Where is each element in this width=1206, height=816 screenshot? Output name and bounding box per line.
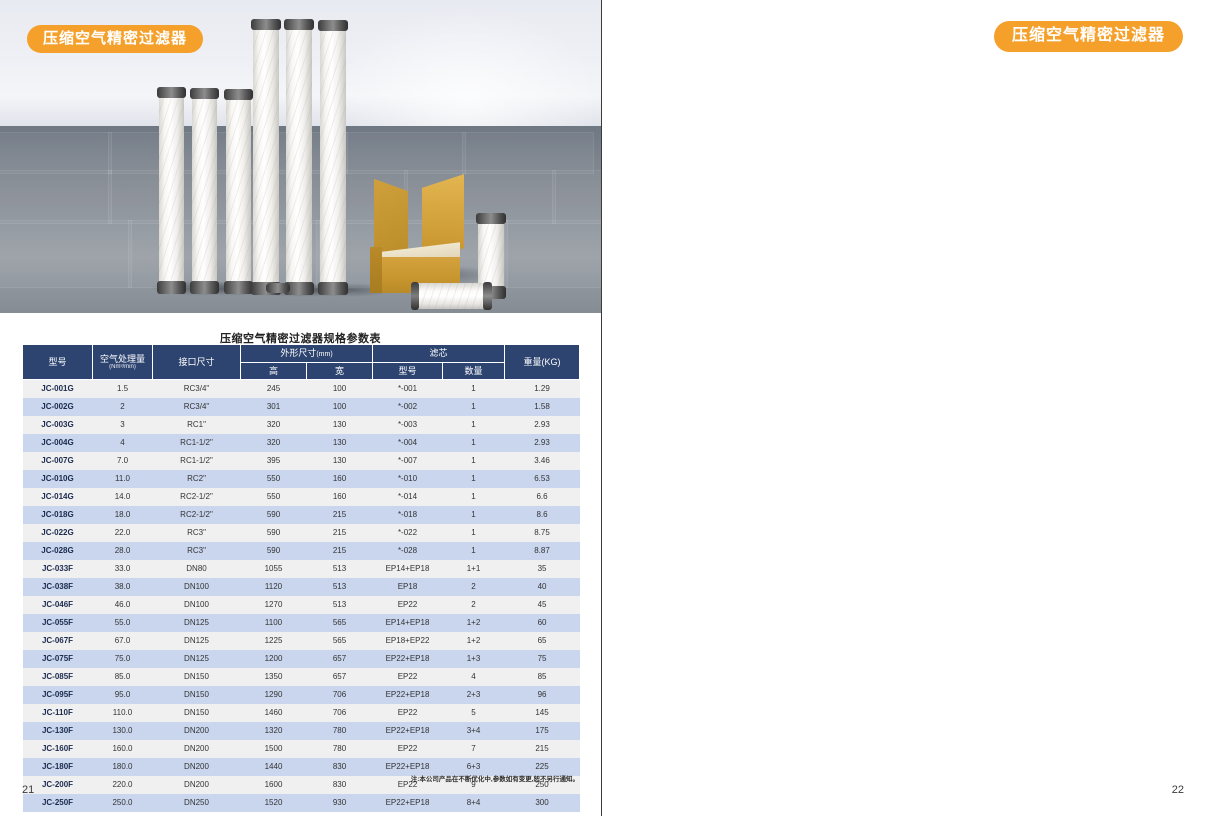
cell-value: 1350 bbox=[241, 668, 307, 686]
cell-value: *-002 bbox=[373, 398, 443, 416]
cell-value: 830 bbox=[307, 776, 373, 794]
cell-value: 95.0 bbox=[93, 686, 153, 704]
cell-value: EP22+EP18 bbox=[373, 722, 443, 740]
header-air-flow-unit: (Nm³/min) bbox=[94, 364, 151, 371]
filter-cartridge-short bbox=[478, 220, 504, 292]
cell-value: 130 bbox=[307, 416, 373, 434]
cell-value: 1290 bbox=[241, 686, 307, 704]
cell-value: EP18+EP22 bbox=[373, 632, 443, 650]
cell-value: 930 bbox=[307, 794, 373, 812]
cell-model: JC-022G bbox=[23, 524, 93, 542]
cell-value: 1 bbox=[443, 434, 505, 452]
cell-value: 2+3 bbox=[443, 686, 505, 704]
cell-value: 60 bbox=[505, 614, 580, 632]
cell-value: 215 bbox=[307, 506, 373, 524]
cell-value: 4 bbox=[443, 668, 505, 686]
cell-value: *-004 bbox=[373, 434, 443, 452]
cell-value: *-010 bbox=[373, 470, 443, 488]
table-row: JC-038F38.0DN1001120513EP18240 bbox=[23, 578, 580, 596]
cell-value: 250.0 bbox=[93, 794, 153, 812]
header-element-model: 型号 bbox=[373, 363, 443, 380]
cell-value: 85.0 bbox=[93, 668, 153, 686]
cell-value: 657 bbox=[307, 650, 373, 668]
table-row: JC-010G11.0RC2"550160*-01016.53 bbox=[23, 470, 580, 488]
header-element-qty: 数量 bbox=[443, 363, 505, 380]
cell-value: 590 bbox=[241, 506, 307, 524]
cell-model: JC-002G bbox=[23, 398, 93, 416]
cell-value: 565 bbox=[307, 632, 373, 650]
cell-value: RC3" bbox=[153, 524, 241, 542]
cell-value: DN150 bbox=[153, 686, 241, 704]
cell-value: DN80 bbox=[153, 560, 241, 578]
table-row: JC-250F250.0DN2501520930EP22+EP188+4300 bbox=[23, 794, 580, 812]
cell-value: EP18 bbox=[373, 578, 443, 596]
cell-value: 706 bbox=[307, 686, 373, 704]
cell-value: 175 bbox=[505, 722, 580, 740]
cell-value: 1+2 bbox=[443, 614, 505, 632]
cell-value: 1500 bbox=[241, 740, 307, 758]
spec-table: 型号 空气处理量 (Nm³/min) 接口尺寸 外形尺寸(mm) 滤芯 重量(K… bbox=[22, 344, 580, 812]
table-row: JC-160F160.0DN2001500780EP227215 bbox=[23, 740, 580, 758]
table-row: JC-033F33.0DN801055513EP14+EP181+135 bbox=[23, 560, 580, 578]
cell-value: 1 bbox=[443, 542, 505, 560]
table-row: JC-004G4RC1-1/2"320130*-00412.93 bbox=[23, 434, 580, 452]
cell-value: 55.0 bbox=[93, 614, 153, 632]
cell-value: 96 bbox=[505, 686, 580, 704]
cell-value: 1270 bbox=[241, 596, 307, 614]
cell-value: 75 bbox=[505, 650, 580, 668]
cell-value: 1600 bbox=[241, 776, 307, 794]
cell-value: DN125 bbox=[153, 614, 241, 632]
cell-value: *-003 bbox=[373, 416, 443, 434]
filter-cartridge bbox=[253, 26, 279, 288]
cell-value: 565 bbox=[307, 614, 373, 632]
cell-model: JC-018G bbox=[23, 506, 93, 524]
table-row: JC-007G7.0RC1-1/2"395130*-00713.46 bbox=[23, 452, 580, 470]
cell-value: 1 bbox=[443, 470, 505, 488]
cell-value: 1 bbox=[443, 380, 505, 399]
cell-value: DN150 bbox=[153, 668, 241, 686]
cell-value: RC1" bbox=[153, 416, 241, 434]
cell-value: 180.0 bbox=[93, 758, 153, 776]
cell-model: JC-075F bbox=[23, 650, 93, 668]
filter-cartridge bbox=[192, 95, 217, 287]
cell-model: JC-130F bbox=[23, 722, 93, 740]
filter-cartridge bbox=[226, 96, 251, 287]
header-port-size: 接口尺寸 bbox=[153, 345, 241, 380]
cell-model: JC-001G bbox=[23, 380, 93, 399]
cell-value: 130 bbox=[307, 452, 373, 470]
cell-value: 1.29 bbox=[505, 380, 580, 399]
cell-value: 780 bbox=[307, 740, 373, 758]
cell-value: 8.75 bbox=[505, 524, 580, 542]
cell-value: 8+4 bbox=[443, 794, 505, 812]
cell-value: 245 bbox=[241, 380, 307, 399]
cell-value: 7.0 bbox=[93, 452, 153, 470]
cell-value: 160 bbox=[307, 488, 373, 506]
cell-value: 3.46 bbox=[505, 452, 580, 470]
cell-value: *-014 bbox=[373, 488, 443, 506]
cell-value: 100 bbox=[307, 398, 373, 416]
table-row: JC-001G1.5RC3/4"245100*-00111.29 bbox=[23, 380, 580, 399]
cell-value: 6.53 bbox=[505, 470, 580, 488]
filter-cartridge bbox=[159, 94, 184, 287]
cell-value: *-007 bbox=[373, 452, 443, 470]
table-row: JC-085F85.0DN1501350657EP22485 bbox=[23, 668, 580, 686]
cell-model: JC-095F bbox=[23, 686, 93, 704]
product-title-badge-right: 压缩空气精密过滤器 bbox=[994, 21, 1183, 52]
left-page-number: 21 bbox=[22, 784, 34, 796]
cell-value: RC3/4" bbox=[153, 380, 241, 399]
cell-value: 2.93 bbox=[505, 416, 580, 434]
cell-model: JC-003G bbox=[23, 416, 93, 434]
table-row: JC-014G14.0RC2-1/2"550160*-01416.6 bbox=[23, 488, 580, 506]
cell-value: RC2-1/2" bbox=[153, 506, 241, 524]
cell-model: JC-180F bbox=[23, 758, 93, 776]
table-row: JC-130F130.0DN2001320780EP22+EP183+4175 bbox=[23, 722, 580, 740]
cell-value: 590 bbox=[241, 524, 307, 542]
cell-value: RC3" bbox=[153, 542, 241, 560]
cell-value: 1440 bbox=[241, 758, 307, 776]
cell-value: EP14+EP18 bbox=[373, 614, 443, 632]
cell-value: 1225 bbox=[241, 632, 307, 650]
cell-value: 130 bbox=[307, 434, 373, 452]
cell-value: 1460 bbox=[241, 704, 307, 722]
cell-value: 67.0 bbox=[93, 632, 153, 650]
cell-value: DN250 bbox=[153, 794, 241, 812]
cell-value: 830 bbox=[307, 758, 373, 776]
cell-value: 33.0 bbox=[93, 560, 153, 578]
cell-value: 1 bbox=[443, 524, 505, 542]
right-page: 压缩空气精密过滤器 过滤等级过滤器名称过滤器类型固体颗粒去除(包括水和油雾)最大… bbox=[601, 0, 1206, 816]
cell-value: RC2" bbox=[153, 470, 241, 488]
product-photo: 压缩空气精密过滤器 bbox=[0, 0, 601, 313]
cell-value: 1+2 bbox=[443, 632, 505, 650]
cell-value: 130.0 bbox=[93, 722, 153, 740]
table-row: JC-028G28.0RC3"590215*-02818.87 bbox=[23, 542, 580, 560]
cell-value: EP22 bbox=[373, 596, 443, 614]
cell-value: DN200 bbox=[153, 758, 241, 776]
cell-value: 18.0 bbox=[93, 506, 153, 524]
cell-value: DN150 bbox=[153, 704, 241, 722]
cell-value: 1520 bbox=[241, 794, 307, 812]
cell-value: 1200 bbox=[241, 650, 307, 668]
cell-value: 14.0 bbox=[93, 488, 153, 506]
cell-value: 28.0 bbox=[93, 542, 153, 560]
cell-value: RC2-1/2" bbox=[153, 488, 241, 506]
cell-value: 46.0 bbox=[93, 596, 153, 614]
cell-value: 1 bbox=[443, 452, 505, 470]
header-air-flow-label: 空气处理量 bbox=[100, 354, 145, 364]
header-model: 型号 bbox=[23, 345, 93, 380]
cell-model: JC-160F bbox=[23, 740, 93, 758]
cell-value: 780 bbox=[307, 722, 373, 740]
cell-value: 85 bbox=[505, 668, 580, 686]
cell-value: *-018 bbox=[373, 506, 443, 524]
cell-model: JC-085F bbox=[23, 668, 93, 686]
cell-value: 215 bbox=[307, 524, 373, 542]
table-row: JC-055F55.0DN1251100565EP14+EP181+260 bbox=[23, 614, 580, 632]
cell-value: DN200 bbox=[153, 776, 241, 794]
cell-value: 220.0 bbox=[93, 776, 153, 794]
product-carton bbox=[370, 185, 470, 290]
cell-value: 3 bbox=[93, 416, 153, 434]
cell-value: 320 bbox=[241, 416, 307, 434]
cell-value: EP14+EP18 bbox=[373, 560, 443, 578]
cell-value: 550 bbox=[241, 470, 307, 488]
cell-value: 2 bbox=[93, 398, 153, 416]
cell-value: 1+1 bbox=[443, 560, 505, 578]
cell-model: JC-014G bbox=[23, 488, 93, 506]
cell-value: DN125 bbox=[153, 632, 241, 650]
cell-value: *-001 bbox=[373, 380, 443, 399]
left-page: 压缩空气精密过滤器 压缩空气精密过滤器规格参数表 型号 空气处理量 (Nm³/m… bbox=[0, 0, 601, 816]
cell-value: 301 bbox=[241, 398, 307, 416]
cell-value: 40 bbox=[505, 578, 580, 596]
cell-model: JC-055F bbox=[23, 614, 93, 632]
cell-model: JC-010G bbox=[23, 470, 93, 488]
cell-value: 1055 bbox=[241, 560, 307, 578]
cell-value: EP22 bbox=[373, 740, 443, 758]
cell-value: 1+3 bbox=[443, 650, 505, 668]
header-element: 滤芯 bbox=[373, 345, 505, 363]
cell-value: 590 bbox=[241, 542, 307, 560]
header-dimensions: 外形尺寸(mm) bbox=[241, 345, 373, 363]
cell-value: 3+4 bbox=[443, 722, 505, 740]
cell-value: 4 bbox=[93, 434, 153, 452]
cell-value: DN125 bbox=[153, 650, 241, 668]
cell-value: 6.6 bbox=[505, 488, 580, 506]
cell-model: JC-007G bbox=[23, 452, 93, 470]
filter-cartridge-lying bbox=[415, 283, 487, 309]
table-row: JC-003G3RC1"320130*-00312.93 bbox=[23, 416, 580, 434]
cell-value: 145 bbox=[505, 704, 580, 722]
cell-value: 1120 bbox=[241, 578, 307, 596]
cell-value: 35 bbox=[505, 560, 580, 578]
table-row: JC-018G18.0RC2-1/2"590215*-01818.6 bbox=[23, 506, 580, 524]
cell-value: 1.5 bbox=[93, 380, 153, 399]
filter-cartridge bbox=[320, 27, 346, 288]
cell-value: 65 bbox=[505, 632, 580, 650]
cell-value: 5 bbox=[443, 704, 505, 722]
cell-value: 2.93 bbox=[505, 434, 580, 452]
spec-table-body: JC-001G1.5RC3/4"245100*-00111.29JC-002G2… bbox=[23, 380, 580, 813]
table-row: JC-046F46.0DN1001270513EP22245 bbox=[23, 596, 580, 614]
cell-value: 706 bbox=[307, 704, 373, 722]
cell-value: 320 bbox=[241, 434, 307, 452]
header-dimensions-label: 外形尺寸 bbox=[280, 348, 316, 358]
cell-value: 513 bbox=[307, 596, 373, 614]
product-title-badge: 压缩空气精密过滤器 bbox=[27, 25, 203, 53]
cell-value: DN100 bbox=[153, 578, 241, 596]
spec-header-row-1: 型号 空气处理量 (Nm³/min) 接口尺寸 外形尺寸(mm) 滤芯 重量(K… bbox=[23, 345, 580, 363]
cell-value: 1 bbox=[443, 416, 505, 434]
cell-value: EP22+EP18 bbox=[373, 794, 443, 812]
cell-value: 1100 bbox=[241, 614, 307, 632]
cell-value: 300 bbox=[505, 794, 580, 812]
cell-value: 657 bbox=[307, 668, 373, 686]
cell-value: 7 bbox=[443, 740, 505, 758]
cell-value: DN100 bbox=[153, 596, 241, 614]
cell-value: 1320 bbox=[241, 722, 307, 740]
table-row: JC-002G2RC3/4"301100*-00211.58 bbox=[23, 398, 580, 416]
cell-value: 513 bbox=[307, 578, 373, 596]
cell-value: 513 bbox=[307, 560, 373, 578]
cell-value: 45 bbox=[505, 596, 580, 614]
cell-value: DN200 bbox=[153, 740, 241, 758]
left-footer-note: 注:本公司产品在不断优化中,参数如有变更,恕不另行通知。 bbox=[411, 773, 579, 783]
cell-value: 160 bbox=[307, 470, 373, 488]
cell-value: RC3/4" bbox=[153, 398, 241, 416]
cell-model: JC-250F bbox=[23, 794, 93, 812]
table-row: JC-110F110.0DN1501460706EP225145 bbox=[23, 704, 580, 722]
right-page-number: 22 bbox=[1172, 784, 1184, 796]
cell-value: 215 bbox=[505, 740, 580, 758]
cell-value: 100 bbox=[307, 380, 373, 399]
table-row: JC-067F67.0DN1251225565EP18+EP221+265 bbox=[23, 632, 580, 650]
cell-value: *-028 bbox=[373, 542, 443, 560]
header-air-flow: 空气处理量 (Nm³/min) bbox=[93, 345, 153, 380]
table-row: JC-095F95.0DN1501290706EP22+EP182+396 bbox=[23, 686, 580, 704]
cell-value: 550 bbox=[241, 488, 307, 506]
cell-value: 75.0 bbox=[93, 650, 153, 668]
cartridge-collar bbox=[266, 283, 290, 293]
cell-model: JC-028G bbox=[23, 542, 93, 560]
cell-value: 395 bbox=[241, 452, 307, 470]
cell-value: 1 bbox=[443, 488, 505, 506]
cell-value: 1 bbox=[443, 398, 505, 416]
cell-value: EP22 bbox=[373, 668, 443, 686]
cell-value: DN200 bbox=[153, 722, 241, 740]
cell-value: EP22+EP18 bbox=[373, 686, 443, 704]
cell-model: JC-038F bbox=[23, 578, 93, 596]
cell-value: 8.87 bbox=[505, 542, 580, 560]
cell-model: JC-067F bbox=[23, 632, 93, 650]
cell-value: 160.0 bbox=[93, 740, 153, 758]
cell-value: 2 bbox=[443, 596, 505, 614]
cell-model: JC-033F bbox=[23, 560, 93, 578]
cell-value: RC1-1/2" bbox=[153, 452, 241, 470]
cell-value: 22.0 bbox=[93, 524, 153, 542]
header-dimensions-unit: (mm) bbox=[316, 351, 332, 358]
cell-value: 1 bbox=[443, 506, 505, 524]
cell-value: EP22+EP18 bbox=[373, 650, 443, 668]
cell-model: JC-046F bbox=[23, 596, 93, 614]
cell-value: 2 bbox=[443, 578, 505, 596]
cell-value: *-022 bbox=[373, 524, 443, 542]
cell-value: 38.0 bbox=[93, 578, 153, 596]
table-row: JC-075F75.0DN1251200657EP22+EP181+375 bbox=[23, 650, 580, 668]
cell-model: JC-110F bbox=[23, 704, 93, 722]
filter-cartridge bbox=[286, 26, 312, 288]
cell-value: 215 bbox=[307, 542, 373, 560]
header-width: 宽 bbox=[307, 363, 373, 380]
cell-value: RC1-1/2" bbox=[153, 434, 241, 452]
cell-value: EP22 bbox=[373, 704, 443, 722]
catalog-spread: 压缩空气精密过滤器 压缩空气精密过滤器规格参数表 型号 空气处理量 (Nm³/m… bbox=[0, 0, 1206, 816]
header-weight: 重量(KG) bbox=[505, 345, 580, 380]
cell-value: 8.6 bbox=[505, 506, 580, 524]
header-height: 高 bbox=[241, 363, 307, 380]
cell-model: JC-004G bbox=[23, 434, 93, 452]
cell-value: 11.0 bbox=[93, 470, 153, 488]
table-row: JC-022G22.0RC3"590215*-02218.75 bbox=[23, 524, 580, 542]
cell-value: 110.0 bbox=[93, 704, 153, 722]
cell-value: 1.58 bbox=[505, 398, 580, 416]
